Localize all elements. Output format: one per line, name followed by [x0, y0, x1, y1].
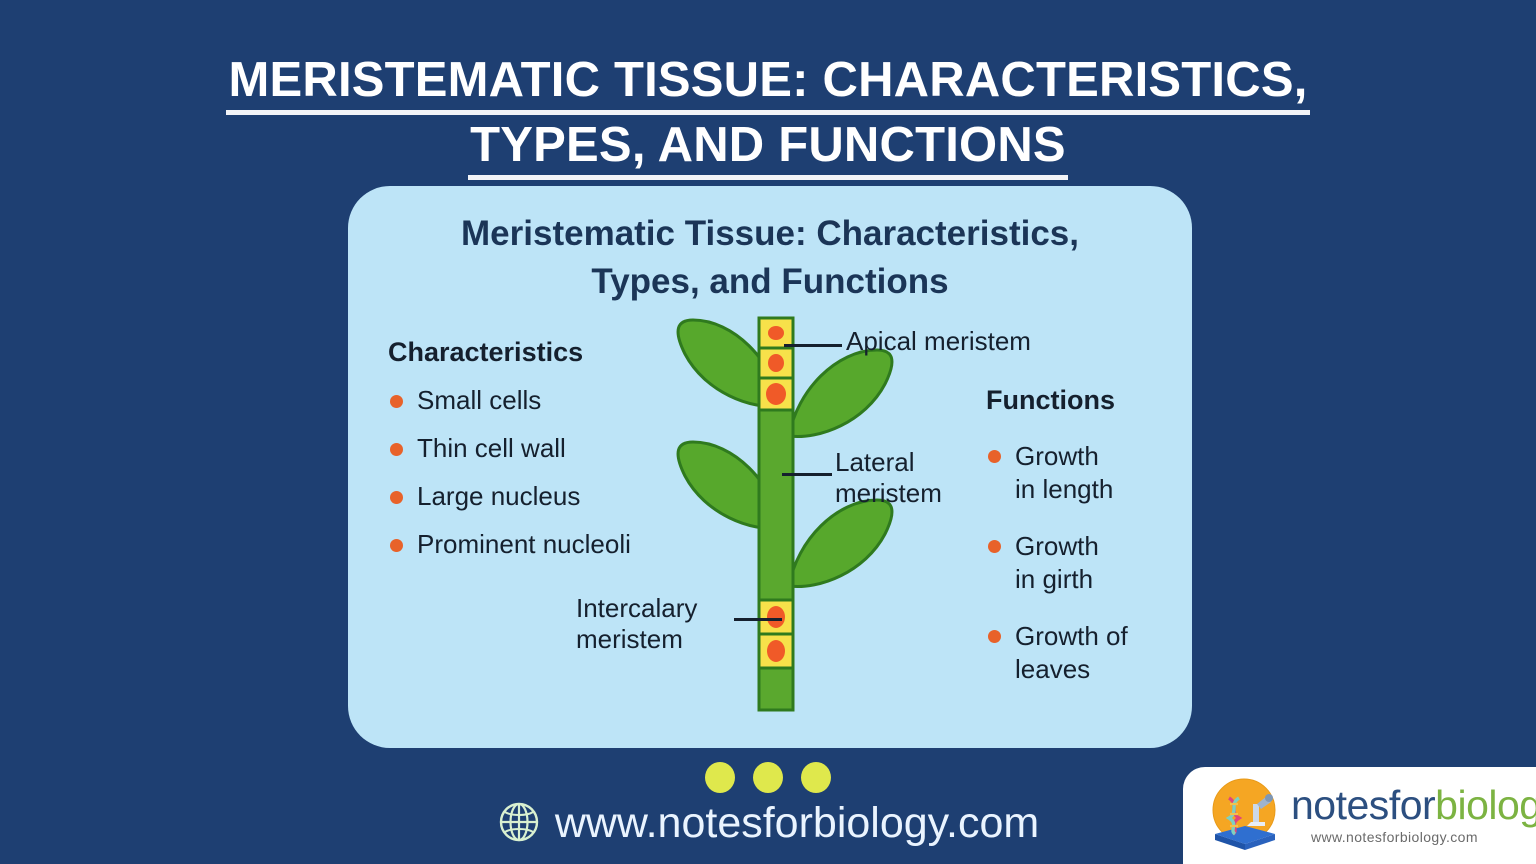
list-item-label: Growthin girth — [1015, 531, 1099, 594]
list-item-label: Large nucleus — [417, 481, 580, 511]
leaf-icon — [789, 350, 892, 437]
card-title-line-1: Meristematic Tissue: Characteristics, — [388, 210, 1152, 258]
bullet-dot-icon — [390, 491, 403, 504]
nucleus-icon — [768, 326, 784, 340]
label-lateral-line-1: Lateral — [835, 447, 985, 478]
bullet-dot-icon — [988, 450, 1001, 463]
label-apical-meristem: Apical meristem — [846, 326, 1031, 357]
list-item-label: Small cells — [417, 385, 541, 415]
logo-wordmark: notesforbiology — [1291, 781, 1536, 829]
label-lateral-line-2: meristem — [835, 478, 985, 509]
footer-dot-icon — [801, 762, 831, 793]
footer-dot-icon — [753, 762, 783, 793]
footer-dot-icon — [705, 762, 735, 793]
list-item: Growthin length — [986, 440, 1186, 506]
logo-subtitle: www.notesforbiology.com — [1311, 829, 1478, 845]
bullet-dot-icon — [390, 395, 403, 408]
list-item: Growth ofleaves — [986, 620, 1186, 686]
functions-section: Functions Growthin length Growthin girth… — [986, 384, 1186, 686]
page-title-line-2: TYPES, AND FUNCTIONS — [468, 119, 1068, 180]
label-intercalary-line-1: Intercalary — [576, 593, 766, 624]
label-intercalary-meristem: Intercalary meristem — [576, 593, 766, 655]
bullet-dot-icon — [988, 540, 1001, 553]
leader-line-apical — [784, 344, 842, 347]
list-item-label: Thin cell wall — [417, 433, 566, 463]
nucleus-icon — [768, 354, 784, 372]
leader-line-lateral — [782, 473, 832, 476]
bullet-dot-icon — [390, 443, 403, 456]
content-card: Meristematic Tissue: Characteristics, Ty… — [348, 186, 1192, 748]
card-title-line-2: Types, and Functions — [388, 258, 1152, 306]
logo-word-for: for — [1389, 782, 1435, 828]
list-item-label: Growth ofleaves — [1015, 621, 1128, 684]
logo-badge[interactable]: notesforbiology www.notesforbiology.com — [1183, 767, 1536, 864]
label-lateral-meristem: Lateral meristem — [835, 447, 985, 509]
card-title: Meristematic Tissue: Characteristics, Ty… — [388, 210, 1152, 306]
list-item-label: Growthin length — [1015, 441, 1113, 504]
nucleus-icon — [767, 640, 785, 662]
functions-list: Growthin length Growthin girth Growth of… — [986, 440, 1186, 686]
logo-mark-icon — [1205, 776, 1283, 854]
functions-heading: Functions — [986, 384, 1186, 416]
page-title-line-1: MERISTEMATIC TISSUE: CHARACTERISTICS, — [226, 54, 1309, 115]
bullet-dot-icon — [988, 630, 1001, 643]
bullet-dot-icon — [390, 539, 403, 552]
leaf-icon — [789, 500, 892, 587]
nucleus-icon — [766, 383, 786, 405]
globe-icon — [497, 800, 541, 858]
list-item-label: Prominent nucleoli — [417, 529, 631, 559]
label-intercalary-line-2: meristem — [576, 624, 766, 655]
page-title: MERISTEMATIC TISSUE: CHARACTERISTICS, TY… — [0, 54, 1536, 180]
logo-word-biology: biology — [1435, 782, 1536, 828]
footer-url-text: www.notesforbiology.com — [555, 799, 1039, 847]
nucleus-icon — [767, 606, 785, 628]
logo-word-notes: notes — [1291, 782, 1389, 828]
list-item: Growthin girth — [986, 530, 1186, 596]
